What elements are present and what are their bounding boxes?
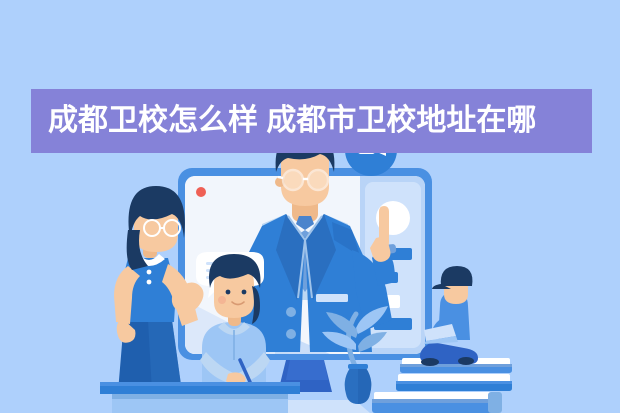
title-banner: 成都卫校怎么样 成都市卫校地址在哪 <box>31 89 592 153</box>
page-title: 成都卫校怎么样 成都市卫校地址在哪 <box>31 89 592 153</box>
education-illustration <box>0 0 620 413</box>
screenshot-canvas: 成都卫校怎么样 成都市卫校地址在哪 <box>0 0 620 413</box>
record-dot-icon <box>196 187 206 197</box>
